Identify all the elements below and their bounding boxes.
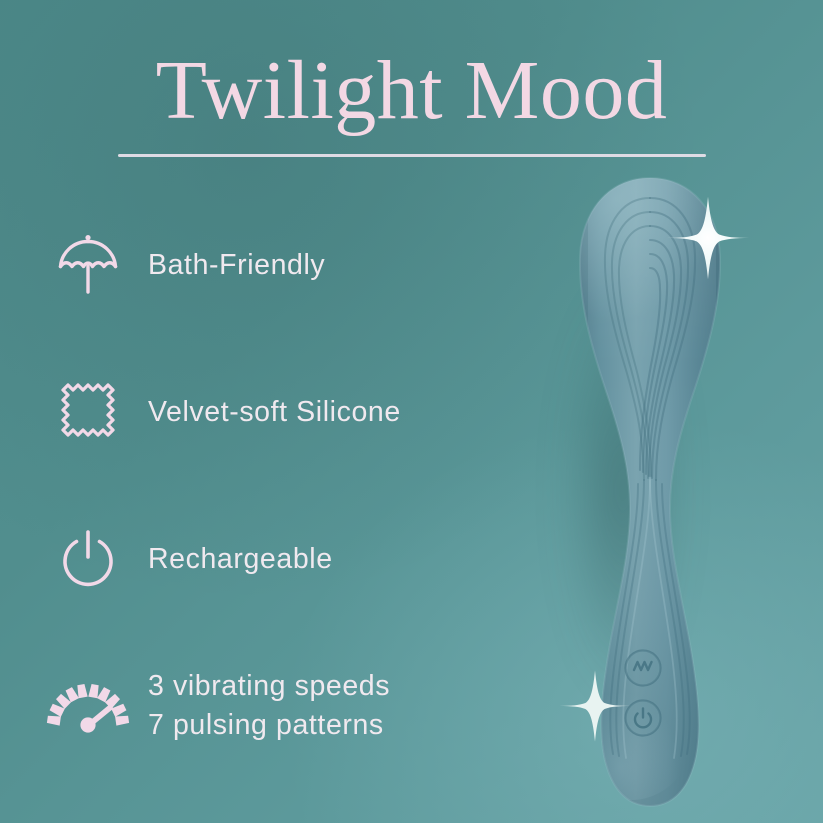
feature-label: 3 vibrating speeds 7 pulsing patterns	[148, 667, 390, 745]
product-infographic: Twilight Mood Bath-Friendly	[0, 0, 823, 823]
fabric-swatch-icon	[42, 366, 134, 458]
feature-item-velvet-soft-silicone: Velvet-soft Silicone	[42, 360, 401, 464]
speedometer-icon	[42, 660, 134, 752]
power-icon	[42, 513, 134, 605]
feature-item-speeds-patterns: 3 vibrating speeds 7 pulsing patterns	[42, 654, 390, 758]
feature-label: Rechargeable	[148, 540, 333, 579]
product-illustration	[480, 150, 820, 810]
power-button	[626, 701, 661, 736]
feature-label: Velvet-soft Silicone	[148, 393, 401, 432]
product-image	[480, 150, 820, 810]
feature-label: Bath-Friendly	[148, 246, 325, 285]
feature-item-rechargeable: Rechargeable	[42, 507, 333, 611]
feature-item-bath-friendly: Bath-Friendly	[42, 213, 325, 317]
umbrella-icon	[42, 219, 134, 311]
pattern-button	[626, 651, 661, 686]
page-title: Twilight Mood	[0, 47, 823, 134]
